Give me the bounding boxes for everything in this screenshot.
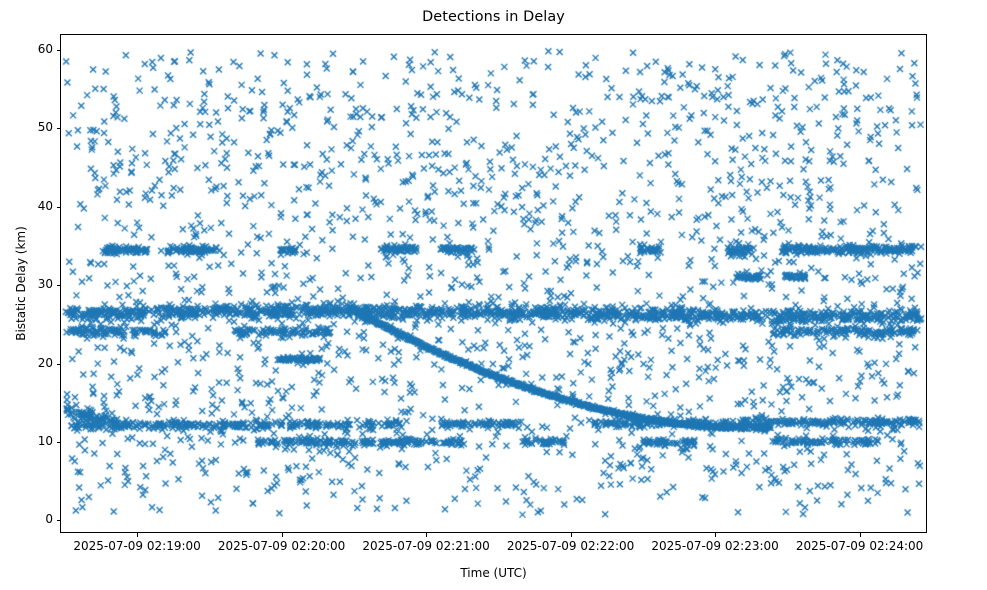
x-axis-label: Time (UTC) bbox=[60, 566, 927, 580]
y-tick-label: 50 bbox=[5, 120, 53, 134]
x-tick-label: 2025-07-09 02:24:00 bbox=[765, 539, 955, 553]
scatter-plot-canvas bbox=[61, 35, 926, 532]
y-tick-label: 0 bbox=[5, 512, 53, 526]
y-tick-label: 40 bbox=[5, 199, 53, 213]
y-tick-label: 10 bbox=[5, 434, 53, 448]
y-tick-label: 30 bbox=[5, 277, 53, 291]
page-title: Detections in Delay bbox=[0, 9, 987, 25]
x-tick-mark bbox=[137, 533, 138, 537]
matplotlib-figure: Detections in Delay Bistatic Delay (km) … bbox=[0, 0, 987, 590]
x-tick-mark bbox=[571, 533, 572, 537]
x-tick-mark bbox=[860, 533, 861, 537]
x-tick-mark bbox=[426, 533, 427, 537]
x-tick-mark bbox=[282, 533, 283, 537]
x-tick-mark bbox=[715, 533, 716, 537]
plot-area bbox=[60, 34, 927, 533]
y-tick-label: 20 bbox=[5, 356, 53, 370]
y-tick-label: 60 bbox=[5, 42, 53, 56]
